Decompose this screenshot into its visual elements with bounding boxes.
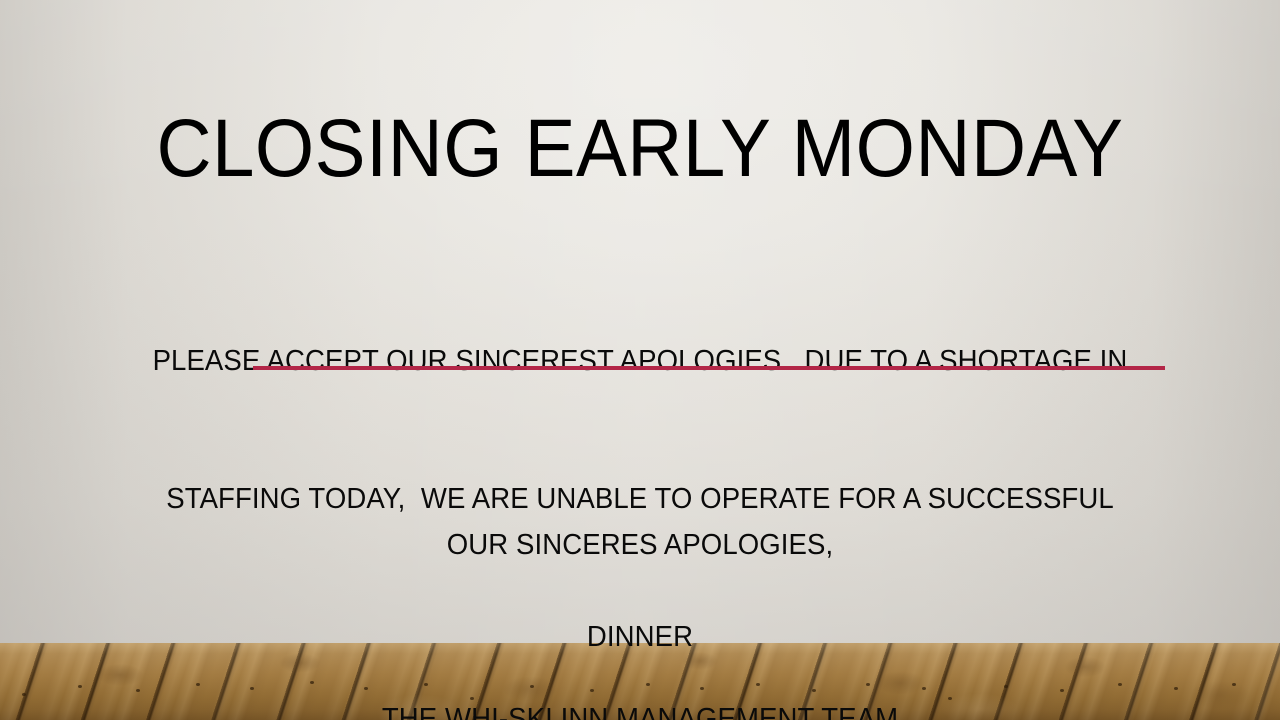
body-line-1: PLEASE ACCEPT OUR SINCEREST APOLOGIES. D… — [93, 338, 1187, 384]
signoff-line-1: OUR SINCERES APOLOGIES, — [93, 516, 1187, 574]
signoff-line-2: THE WHI-SKI INN MANAGEMENT TEAM — [93, 690, 1187, 720]
presentation-slide: CLOSING EARLY MONDAY PLEASE ACCEPT OUR S… — [0, 0, 1280, 720]
slide-title: CLOSING EARLY MONDAY — [104, 108, 1175, 190]
slide-content: CLOSING EARLY MONDAY PLEASE ACCEPT OUR S… — [0, 0, 1280, 720]
slide-signoff: OUR SINCERES APOLOGIES, THE WHI-SKI INN … — [93, 400, 1187, 720]
red-divider-rule — [253, 366, 1165, 370]
